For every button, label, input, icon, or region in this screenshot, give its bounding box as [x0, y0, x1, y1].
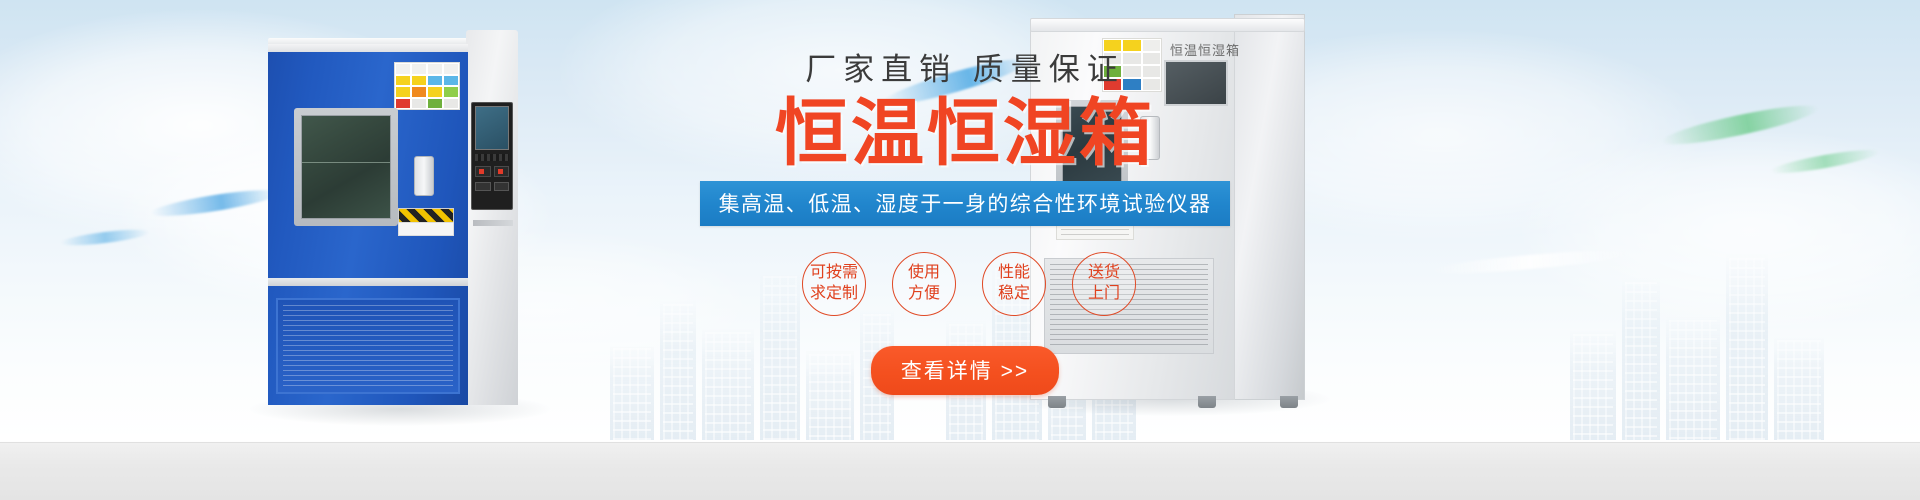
banner-subtitle: 集高温、低温、湿度于一身的综合性环境试验仪器 [700, 181, 1230, 226]
white-streak-decoration [1430, 246, 1630, 277]
feature-badge-list: 可按需 求定制 使用 方便 性能 稳定 送货 上门 [700, 252, 1230, 316]
feature-badge-easy-use[interactable]: 使用 方便 [892, 252, 956, 316]
panel-readouts [475, 166, 509, 177]
feature-badge-delivery[interactable]: 送货 上门 [1072, 252, 1136, 316]
panel-text-strip [475, 154, 509, 161]
chamber-door-handle-left [414, 156, 434, 196]
badge-line-1: 可按需 [810, 263, 858, 283]
product-image-left-chamber [268, 30, 518, 405]
banner-tagline: 厂家直销 质量保证 [700, 44, 1230, 89]
banner-text-block: 厂家直销 质量保证 恒温恒湿箱 集高温、低温、湿度于一身的综合性环境试验仪器 可… [700, 44, 1230, 395]
skyline-silhouette [1560, 230, 1900, 440]
green-streak-decoration [1770, 146, 1881, 178]
badge-line-2: 稳定 [998, 284, 1030, 304]
badge-line-2: 求定制 [810, 284, 858, 304]
caster-foot [1048, 396, 1066, 408]
panel-buttons [475, 182, 509, 191]
feature-badge-stable[interactable]: 性能 稳定 [982, 252, 1046, 316]
badge-line-2: 上门 [1088, 284, 1120, 304]
cta-container: 查看详情 >> [700, 346, 1230, 395]
caster-foot [1280, 396, 1298, 408]
safety-label-left [394, 62, 460, 110]
green-streak-decoration [1660, 99, 1821, 152]
banner-headline: 恒温恒湿箱 [700, 95, 1230, 174]
blue-streak-decoration [60, 227, 151, 249]
ventilation-grille-left [276, 298, 460, 394]
badge-line-1: 送货 [1088, 263, 1120, 283]
control-screen-left [475, 106, 509, 150]
badge-line-1: 性能 [998, 263, 1030, 283]
caster-foot [1198, 396, 1216, 408]
feature-badge-custom[interactable]: 可按需 求定制 [802, 252, 866, 316]
badge-line-1: 使用 [908, 263, 940, 283]
side-nameplate-left [473, 220, 513, 226]
control-panel-left [471, 102, 513, 210]
badge-line-2: 方便 [908, 284, 940, 304]
ground-strip [0, 442, 1920, 500]
spec-plate-left [398, 222, 454, 236]
blue-streak-decoration [150, 185, 281, 221]
view-details-button[interactable]: 查看详情 >> [871, 346, 1059, 395]
cloud-decoration [1520, 130, 1920, 330]
chamber-viewing-window-left [294, 108, 398, 226]
promo-banner: 恒温恒湿箱 厂家直销 质量保证 恒温恒湿箱 集高温、低温、湿度于一身的综合性环境… [0, 0, 1920, 500]
